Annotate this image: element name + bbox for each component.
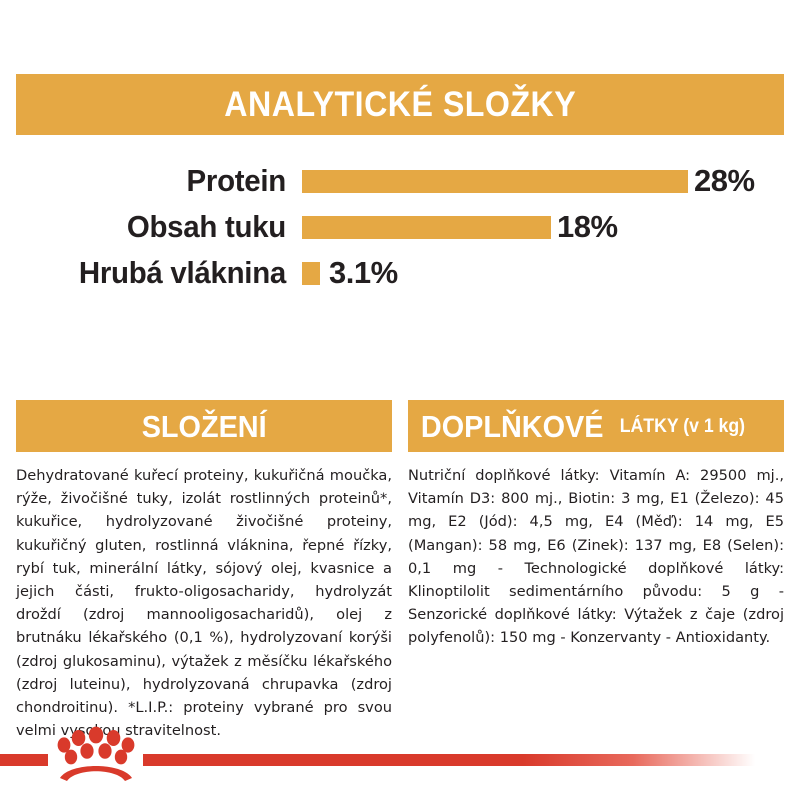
bar-label-protein: Protein bbox=[30, 159, 287, 203]
brand-footer bbox=[0, 742, 800, 800]
chart-row: Obsah tuku 18% bbox=[16, 205, 784, 249]
footer-rule-left bbox=[0, 754, 48, 766]
chart-row: Hrubá vláknina 3.1% bbox=[16, 251, 784, 295]
bar-crude-fibre bbox=[302, 262, 320, 285]
composition-header-title: SLOŽENÍ bbox=[142, 411, 267, 442]
analytical-constituents-chart: Protein 28% Obsah tuku 18% Hrubá vláknin… bbox=[16, 155, 784, 310]
bar-label-crude-fibre: Hrubá vláknina bbox=[30, 251, 287, 295]
bar-value-fat-content: 18% bbox=[557, 205, 618, 249]
footer-rule-right bbox=[143, 754, 755, 766]
bar-value-protein: 28% bbox=[694, 159, 755, 203]
additives-text: Nutriční doplňkové látky: Vitamín A: 295… bbox=[408, 464, 784, 650]
page-title: ANALYTICKÉ SLOŽKY bbox=[224, 87, 576, 122]
composition-text: Dehydratované kuřecí proteiny, kukuřičná… bbox=[16, 464, 392, 742]
bar-protein bbox=[302, 170, 688, 193]
royal-canin-crown-icon bbox=[54, 726, 138, 784]
additives-header-title: DOPLŇKOVÉ bbox=[421, 411, 604, 442]
analytical-constituents-banner: ANALYTICKÉ SLOŽKY bbox=[16, 74, 784, 135]
chart-row: Protein 28% bbox=[16, 159, 784, 203]
bar-fat-content bbox=[302, 216, 551, 239]
additives-header-subtitle: LÁTKY (v 1 kg) bbox=[620, 417, 745, 436]
bar-value-crude-fibre: 3.1% bbox=[329, 251, 398, 295]
bar-label-fat-content: Obsah tuku bbox=[30, 205, 287, 249]
composition-header: SLOŽENÍ bbox=[16, 400, 392, 452]
additives-header: DOPLŇKOVÉ LÁTKY (v 1 kg) bbox=[408, 400, 784, 452]
